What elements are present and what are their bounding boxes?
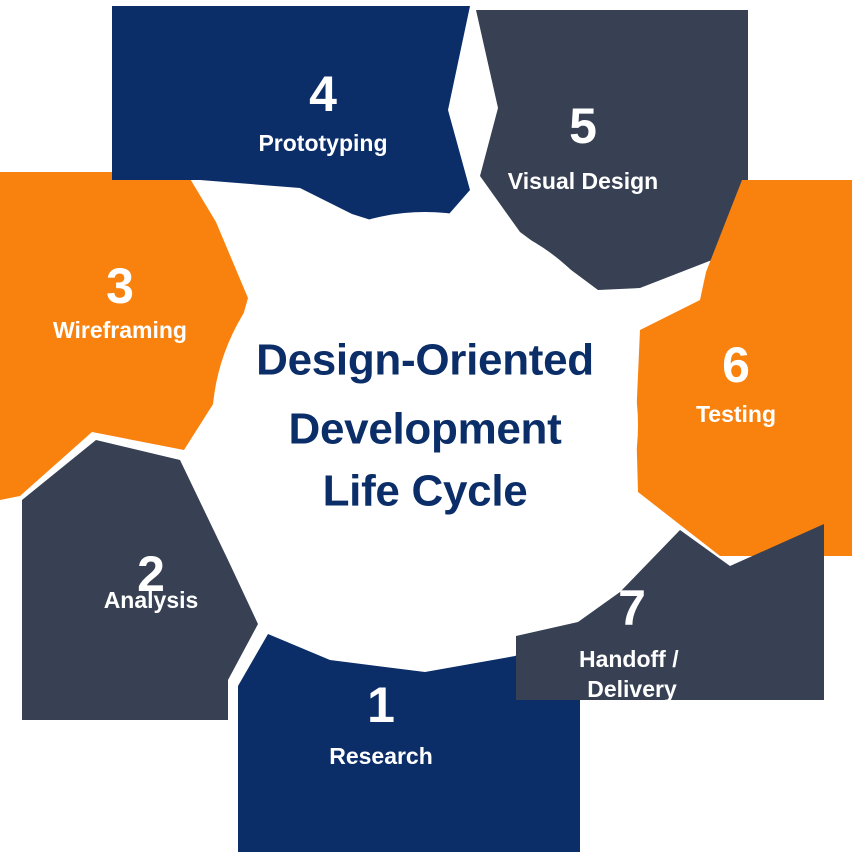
center-title-line-2: Development	[289, 405, 563, 454]
cycle-wheel-svg: 1 Research 2 Analysis 3 Wireframing 4 Pr…	[0, 0, 852, 852]
segment-label-line1: Handoff /	[579, 646, 679, 672]
center-title-line-1: Design-Oriented	[256, 336, 594, 385]
segment-label-analysis: Analysis	[104, 587, 199, 613]
segment-label-research: Research	[329, 743, 433, 769]
segment-number-testing: 6	[722, 337, 750, 393]
segment-number-prototyping: 4	[309, 66, 337, 122]
center-title-line-3: Life Cycle	[323, 467, 528, 516]
segment-number-visual-design: 5	[569, 98, 597, 154]
segment-label-line2: Delivery	[587, 676, 677, 702]
segment-label-testing: Testing	[696, 401, 776, 427]
segment-number-handoff-delivery: 7	[618, 580, 646, 636]
segment-label-prototyping: Prototyping	[258, 130, 387, 156]
segment-number-wireframing: 3	[106, 258, 134, 314]
design-lifecycle-diagram: 1 Research 2 Analysis 3 Wireframing 4 Pr…	[0, 0, 852, 852]
segment-number-research: 1	[367, 677, 395, 733]
segment-label-wireframing: Wireframing	[53, 317, 187, 343]
segment-label-visual-design: Visual Design	[508, 168, 658, 194]
